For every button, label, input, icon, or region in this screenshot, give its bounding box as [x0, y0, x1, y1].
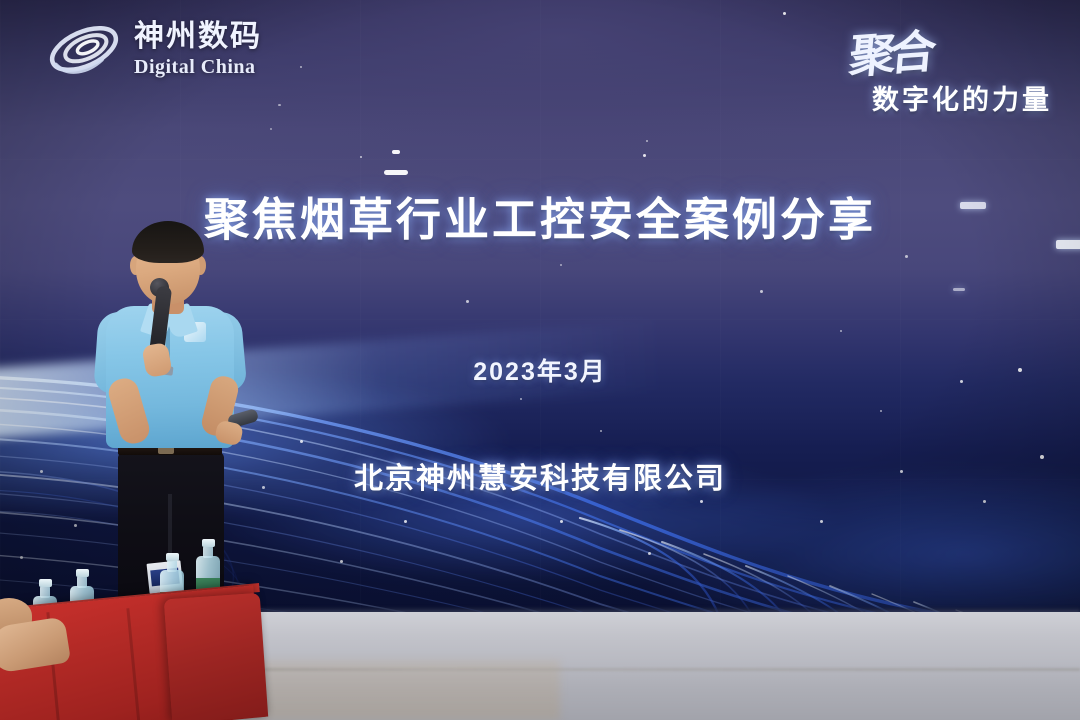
event-logo: 聚合 数字化的力量 [806, 16, 1056, 116]
presenter [88, 226, 278, 622]
brand-name-en: Digital China [134, 57, 262, 77]
event-subtitle: 数字化的力量 [872, 78, 1052, 117]
brand-name-cn: 神州数码 [134, 22, 262, 52]
digital-china-logo: 神州数码 Digital China [44, 18, 262, 80]
chair-back [164, 593, 268, 720]
event-calligraphy: 聚合 [847, 15, 934, 86]
presenter-hair [132, 221, 204, 263]
conference-photo: 神州数码 Digital China 聚合 数字化的力量 聚焦烟草行业工控安全案… [0, 0, 1080, 720]
spiral-galaxy-mark [44, 18, 124, 80]
